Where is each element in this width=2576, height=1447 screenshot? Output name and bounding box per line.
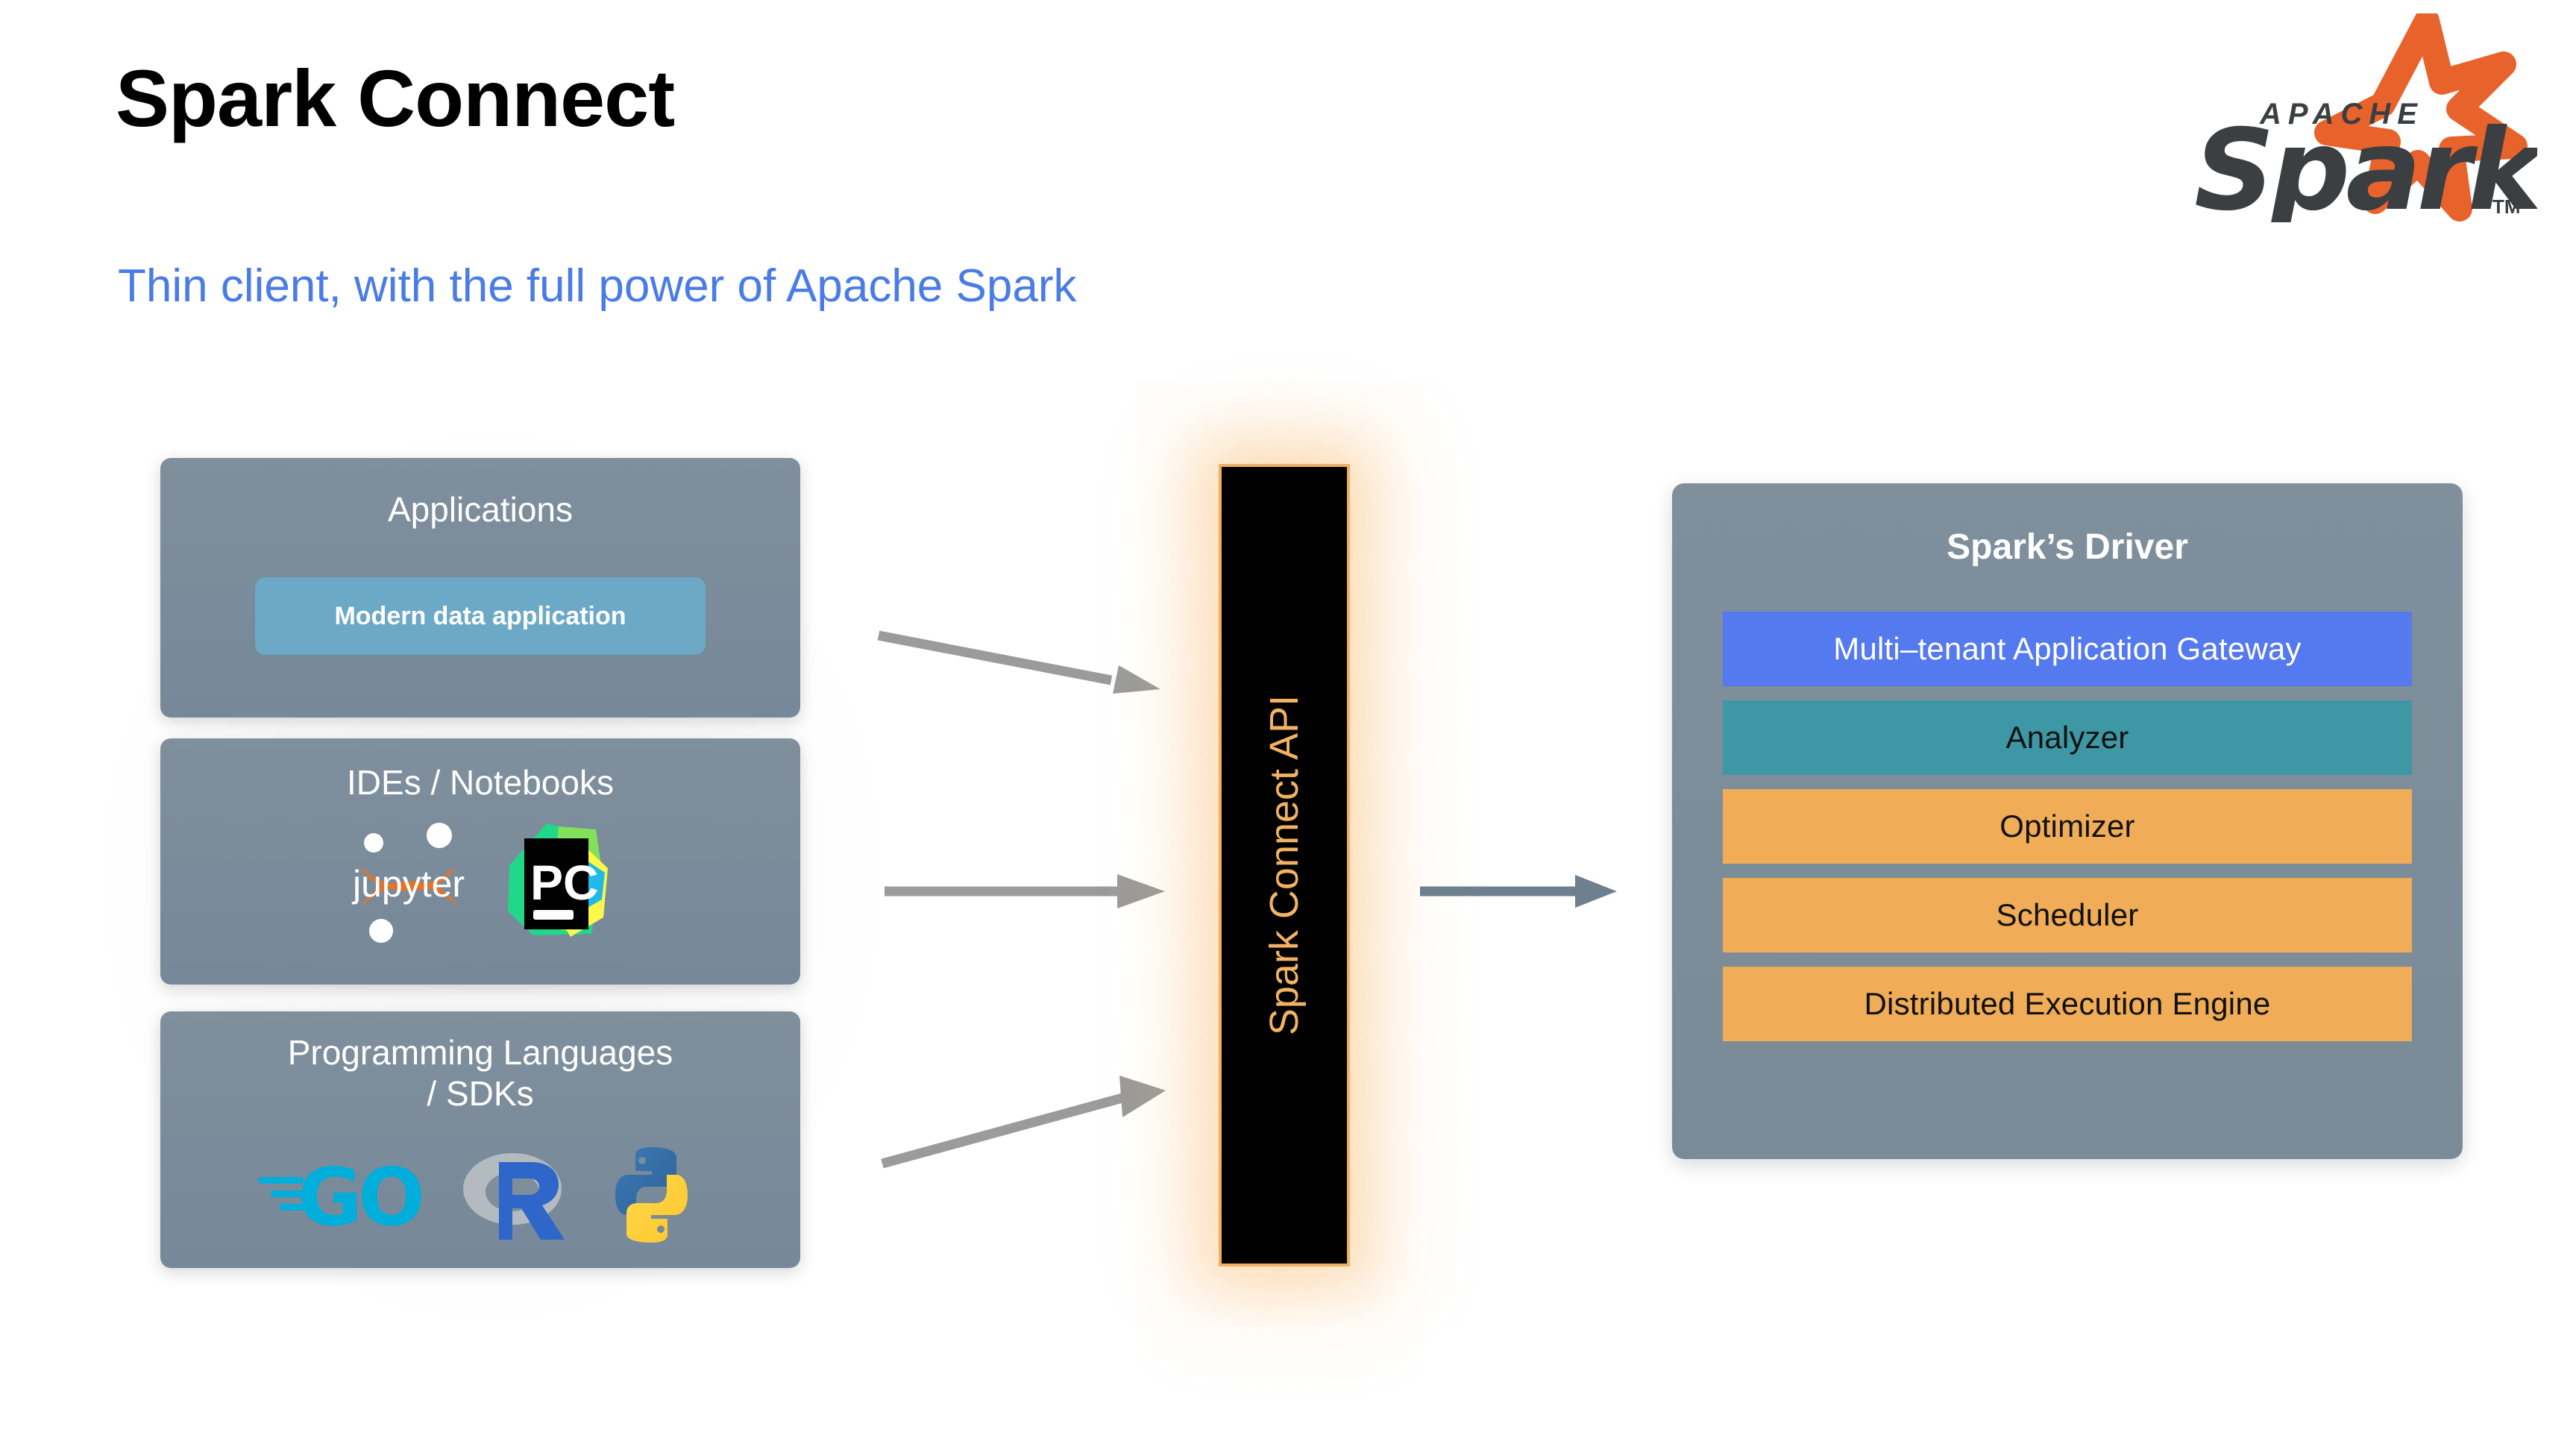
arrow-languages-to-api	[876, 1067, 1190, 1178]
svg-text:GO: GO	[298, 1152, 421, 1240]
apache-spark-logo: APACHE Spark TM	[2164, 13, 2537, 222]
python-logo	[602, 1144, 702, 1249]
page-title: Spark Connect	[116, 56, 674, 140]
driver-component-label: Analyzer	[2005, 720, 2129, 756]
svg-text:jupyter: jupyter	[351, 863, 465, 905]
arrow-api-to-driver	[1417, 861, 1641, 921]
r-logo	[460, 1143, 572, 1251]
arrow-applications-to-api	[873, 619, 1186, 723]
driver-component-optimizer[interactable]: Optimizer	[1723, 789, 2412, 864]
client-card-programming-languages-sdks[interactable]: Programming Languages / SDKs GO	[160, 1011, 800, 1268]
spark-driver-panel[interactable]: Spark’s Driver Multi–tenant Application …	[1672, 483, 2463, 1159]
go-logo: GO	[259, 1150, 430, 1243]
spark-driver-title: Spark’s Driver	[1672, 527, 2463, 568]
svg-text:TM: TM	[2492, 195, 2521, 218]
page-subtitle: Thin client, with the full power of Apac…	[118, 261, 1076, 312]
modern-data-application-label: Modern data application	[334, 602, 626, 631]
modern-data-application-chip[interactable]: Modern data application	[255, 577, 706, 655]
driver-component-analyzer[interactable]: Analyzer	[1723, 700, 2412, 775]
spark-connect-api-bar[interactable]: Spark Connect API	[1219, 464, 1350, 1266]
driver-component-scheduler[interactable]: Scheduler	[1723, 878, 2412, 952]
client-card-ides-notebooks[interactable]: IDEs / Notebooks jupyter PC	[160, 738, 800, 985]
pycharm-logo: PC	[503, 822, 615, 945]
driver-component-label: Multi–tenant Application Gateway	[1833, 631, 2301, 667]
spark-connect-api-label: Spark Connect API	[1261, 695, 1307, 1035]
jupyter-logo: jupyter	[345, 819, 471, 948]
driver-component-label: Distributed Execution Engine	[1865, 986, 2271, 1022]
driver-component-label: Optimizer	[1999, 809, 2135, 844]
client-card-title: IDEs / Notebooks	[160, 762, 800, 803]
client-card-applications[interactable]: Applications Modern data application	[160, 458, 800, 718]
client-card-title: Applications	[160, 489, 800, 530]
arrow-ides-to-api	[880, 858, 1178, 925]
ide-logo-row: jupyter PC	[160, 819, 800, 948]
driver-component-multi-tenant-application-gateway[interactable]: Multi–tenant Application Gateway	[1723, 612, 2412, 686]
driver-component-label: Scheduler	[1997, 897, 2139, 933]
driver-component-distributed-execution-engine[interactable]: Distributed Execution Engine	[1723, 967, 2412, 1041]
driver-component-list: Multi–tenant Application Gateway Analyze…	[1723, 612, 2412, 1041]
language-logo-row: GO	[160, 1143, 800, 1251]
svg-text:PC: PC	[530, 855, 599, 910]
svg-text:Spark: Spark	[2194, 106, 2537, 222]
client-card-title: Programming Languages / SDKs	[160, 1032, 800, 1114]
